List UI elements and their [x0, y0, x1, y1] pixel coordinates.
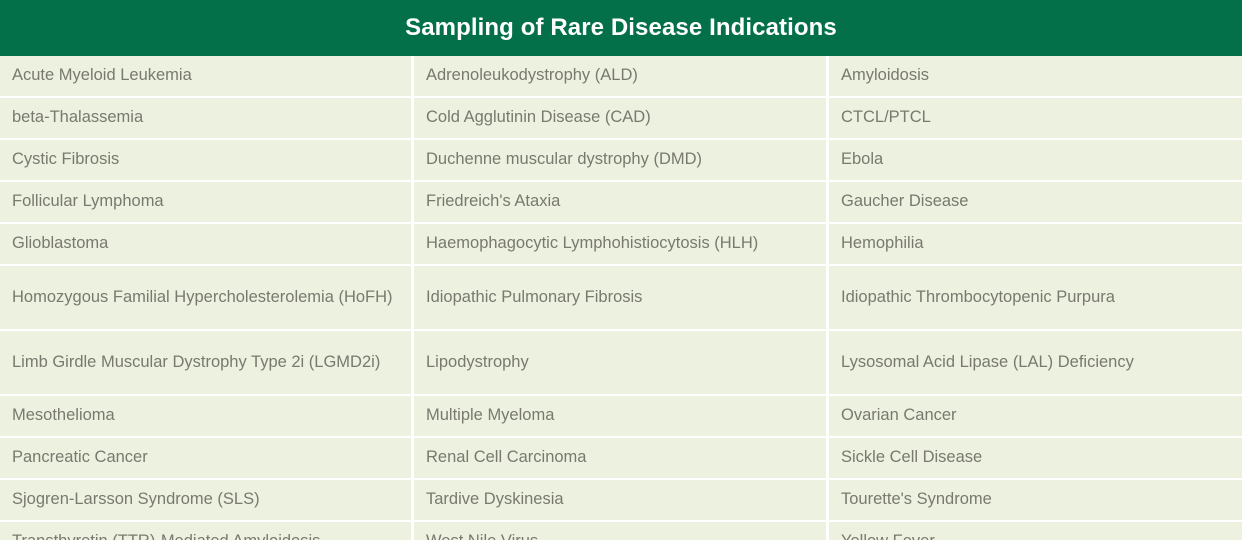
- table-cell-indication: Renal Cell Carcinoma: [414, 438, 826, 478]
- table-cell-indication: Acute Myeloid Leukemia: [0, 56, 411, 96]
- table-cell-indication: Lipodystrophy: [414, 331, 826, 394]
- table-row: MesotheliomaMultiple MyelomaOvarian Canc…: [0, 396, 1242, 436]
- table-cell-indication: beta-Thalassemia: [0, 98, 411, 138]
- table-cell-indication: Duchenne muscular dystrophy (DMD): [414, 140, 826, 180]
- table-cell-indication: West Nile Virus: [414, 522, 826, 540]
- table-cell-indication: Mesothelioma: [0, 396, 411, 436]
- table-cell-indication: Glioblastoma: [0, 224, 411, 264]
- rare-disease-indications-table: Sampling of Rare Disease Indications Acu…: [0, 0, 1242, 540]
- table-cell-indication: Ovarian Cancer: [829, 396, 1242, 436]
- table-header-bar: Sampling of Rare Disease Indications: [0, 0, 1242, 56]
- table-cell-indication: Friedreich's Ataxia: [414, 182, 826, 222]
- table-cell-indication: Hemophilia: [829, 224, 1242, 264]
- table-cell-indication: Ebola: [829, 140, 1242, 180]
- table-cell-indication: Sickle Cell Disease: [829, 438, 1242, 478]
- table-cell-indication: Idiopathic Thrombocytopenic Purpura: [829, 266, 1242, 329]
- table-row: Homozygous Familial Hypercholesterolemia…: [0, 266, 1242, 329]
- table-cell-indication: Cold Agglutinin Disease (CAD): [414, 98, 826, 138]
- table-row: Limb Girdle Muscular Dystrophy Type 2i (…: [0, 331, 1242, 394]
- table-cell-indication: Sjogren-Larsson Syndrome (SLS): [0, 480, 411, 520]
- table-cell-indication: Homozygous Familial Hypercholesterolemia…: [0, 266, 411, 329]
- page-title: Sampling of Rare Disease Indications: [405, 16, 837, 40]
- table-cell-indication: Tourette's Syndrome: [829, 480, 1242, 520]
- table-row: Transthyretin (TTR)-Mediated Amyloidosis…: [0, 522, 1242, 540]
- table-cell-indication: Pancreatic Cancer: [0, 438, 411, 478]
- table-body: Acute Myeloid LeukemiaAdrenoleukodystrop…: [0, 56, 1242, 540]
- table-row: GlioblastomaHaemophagocytic Lymphohistio…: [0, 224, 1242, 264]
- table-row: Sjogren-Larsson Syndrome (SLS)Tardive Dy…: [0, 480, 1242, 520]
- table-cell-indication: Tardive Dyskinesia: [414, 480, 826, 520]
- table-cell-indication: CTCL/PTCL: [829, 98, 1242, 138]
- table-cell-indication: Amyloidosis: [829, 56, 1242, 96]
- table-cell-indication: Limb Girdle Muscular Dystrophy Type 2i (…: [0, 331, 411, 394]
- table-cell-indication: Transthyretin (TTR)-Mediated Amyloidosis: [0, 522, 411, 540]
- table-cell-indication: Lysosomal Acid Lipase (LAL) Deficiency: [829, 331, 1242, 394]
- table-cell-indication: Multiple Myeloma: [414, 396, 826, 436]
- table-cell-indication: Adrenoleukodystrophy (ALD): [414, 56, 826, 96]
- table-row: Cystic FibrosisDuchenne muscular dystrop…: [0, 140, 1242, 180]
- table-row: Pancreatic CancerRenal Cell CarcinomaSic…: [0, 438, 1242, 478]
- table-cell-indication: Idiopathic Pulmonary Fibrosis: [414, 266, 826, 329]
- table-cell-indication: Gaucher Disease: [829, 182, 1242, 222]
- table-row: Acute Myeloid LeukemiaAdrenoleukodystrop…: [0, 56, 1242, 96]
- table-cell-indication: Cystic Fibrosis: [0, 140, 411, 180]
- table-row: beta-ThalassemiaCold Agglutinin Disease …: [0, 98, 1242, 138]
- table-row: Follicular LymphomaFriedreich's AtaxiaGa…: [0, 182, 1242, 222]
- table-cell-indication: Follicular Lymphoma: [0, 182, 411, 222]
- table-cell-indication: Haemophagocytic Lymphohistiocytosis (HLH…: [414, 224, 826, 264]
- table-cell-indication: Yellow Fever: [829, 522, 1242, 540]
